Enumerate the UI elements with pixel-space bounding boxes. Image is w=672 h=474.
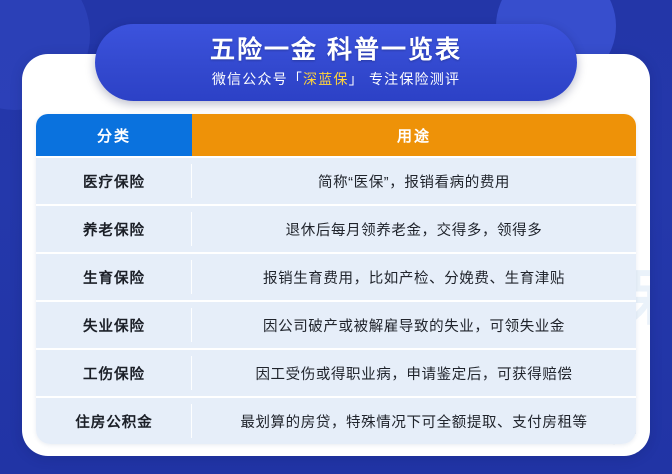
cell-usage: 退休后每月领养老金，交得多，领得多: [192, 206, 636, 252]
cell-category: 医疗保险: [36, 158, 192, 204]
banner-subtitle-after: 」 专注保险测评: [349, 71, 461, 87]
cell-usage: 简称“医保”，报销看病的费用: [192, 158, 636, 204]
cell-category: 工伤保险: [36, 350, 192, 396]
cell-category: 住房公积金: [36, 398, 192, 444]
table-row: 养老保险 退休后每月领养老金，交得多，领得多: [36, 204, 636, 252]
table-row: 生育保险 报销生育费用，比如产检、分娩费、生育津贴: [36, 252, 636, 300]
cell-usage: 因公司破产或被解雇导致的失业，可领失业金: [192, 302, 636, 348]
table-row: 失业保险 因公司破产或被解雇导致的失业，可领失业金: [36, 300, 636, 348]
table-header-row: 分类 用途: [36, 114, 636, 156]
table-header-category: 分类: [36, 114, 192, 156]
cell-category: 养老保险: [36, 206, 192, 252]
table-row: 住房公积金 最划算的房贷，特殊情况下可全额提取、支付房租等: [36, 396, 636, 444]
cell-category: 失业保险: [36, 302, 192, 348]
banner-subtitle-highlight: 深蓝保: [303, 71, 349, 87]
banner-subtitle-before: 微信公众号「: [212, 71, 303, 87]
cell-usage: 最划算的房贷，特殊情况下可全额提取、支付房租等: [192, 398, 636, 444]
table-row: 医疗保险 简称“医保”，报销看病的费用: [36, 156, 636, 204]
table-row: 工伤保险 因工受伤或得职业病，申请鉴定后，可获得赔偿: [36, 348, 636, 396]
header-banner: 五险一金 科普一览表 微信公众号「深蓝保」 专注保险测评: [95, 24, 577, 101]
banner-subtitle: 微信公众号「深蓝保」 专注保险测评: [212, 71, 460, 88]
cell-category: 生育保险: [36, 254, 192, 300]
table-header-usage: 用途: [192, 114, 636, 156]
cell-usage: 报销生育费用，比如产检、分娩费、生育津贴: [192, 254, 636, 300]
cell-usage: 因工受伤或得职业病，申请鉴定后，可获得赔偿: [192, 350, 636, 396]
info-table: 分类 用途 医疗保险 简称“医保”，报销看病的费用 养老保险 退休后每月领养老金…: [36, 114, 636, 444]
banner-title: 五险一金 科普一览表: [210, 37, 462, 65]
